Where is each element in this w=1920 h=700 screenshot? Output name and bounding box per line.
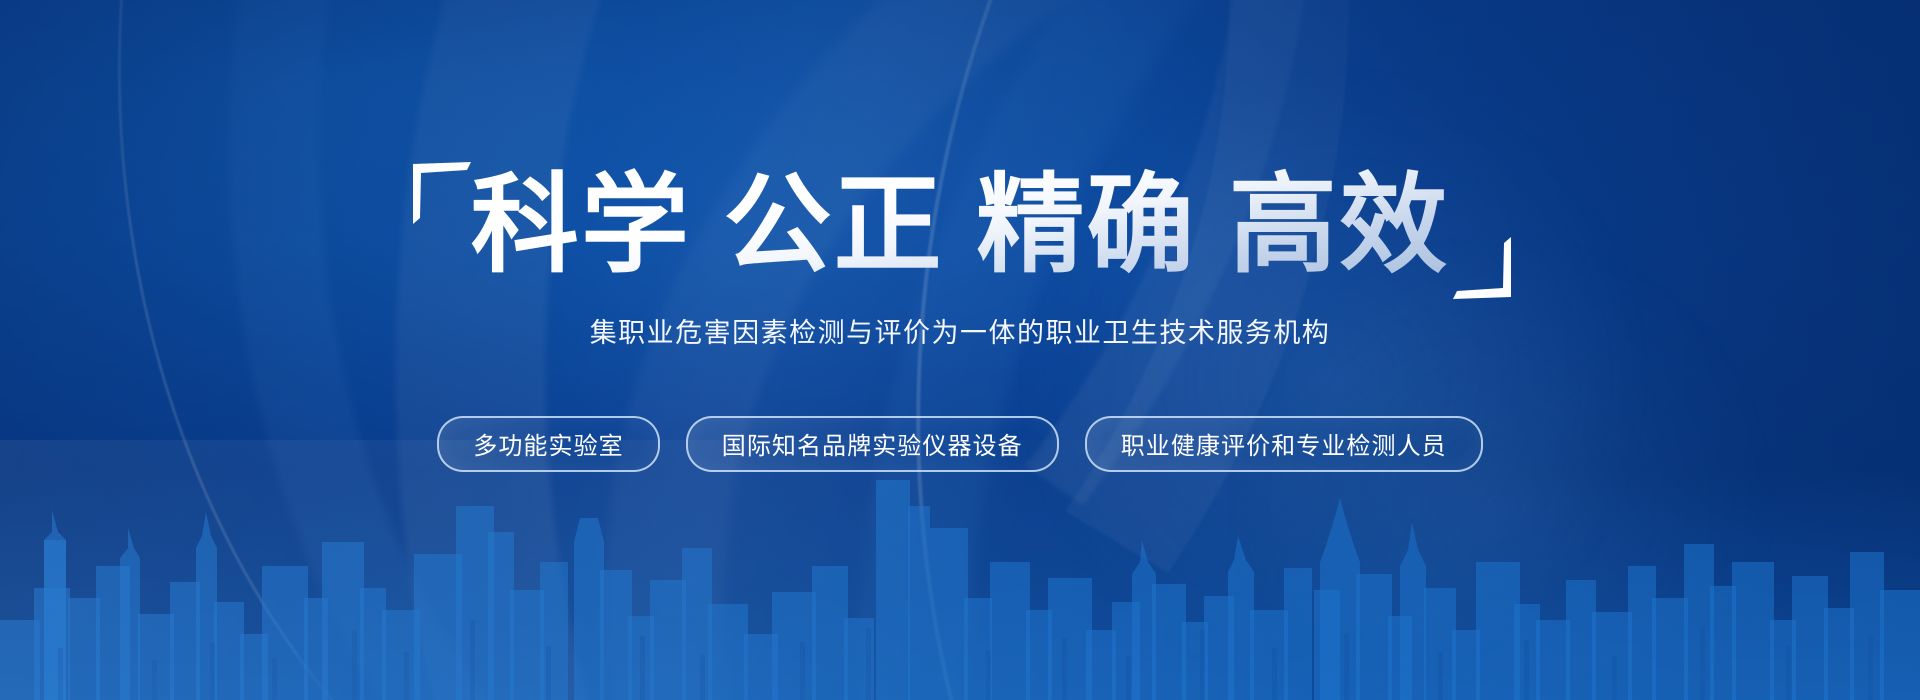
page-subtitle: 集职业危害因素检测与评价为一体的职业卫生技术服务机构 xyxy=(590,311,1331,350)
headline-block: 科学公正精确高效 xyxy=(401,168,1519,285)
headline-word-4: 高效 xyxy=(1229,163,1449,288)
feature-tag-list: 多功能实验室 国际知名品牌实验仪器设备 职业健康评价和专业检测人员 xyxy=(437,416,1483,472)
headline-word-1: 科学 xyxy=(471,163,691,288)
promo-banner: 科学公正精确高效 集职业危害因素检测与评价为一体的职业卫生技术服务机构 多功能实… xyxy=(0,0,1920,700)
page-title: 科学公正精确高效 xyxy=(471,168,1449,285)
corner-bracket-close-icon xyxy=(1451,235,1513,301)
banner-content: 科学公正精确高效 集职业危害因素检测与评价为一体的职业卫生技术服务机构 多功能实… xyxy=(0,0,1920,700)
headline-word-2: 公正 xyxy=(723,163,943,288)
feature-tag-personnel[interactable]: 职业健康评价和专业检测人员 xyxy=(1085,416,1483,472)
feature-tag-equipment[interactable]: 国际知名品牌实验仪器设备 xyxy=(686,416,1059,472)
feature-tag-lab[interactable]: 多功能实验室 xyxy=(437,416,659,472)
corner-bracket-open-icon xyxy=(411,160,473,226)
headline-word-3: 精确 xyxy=(976,163,1196,288)
